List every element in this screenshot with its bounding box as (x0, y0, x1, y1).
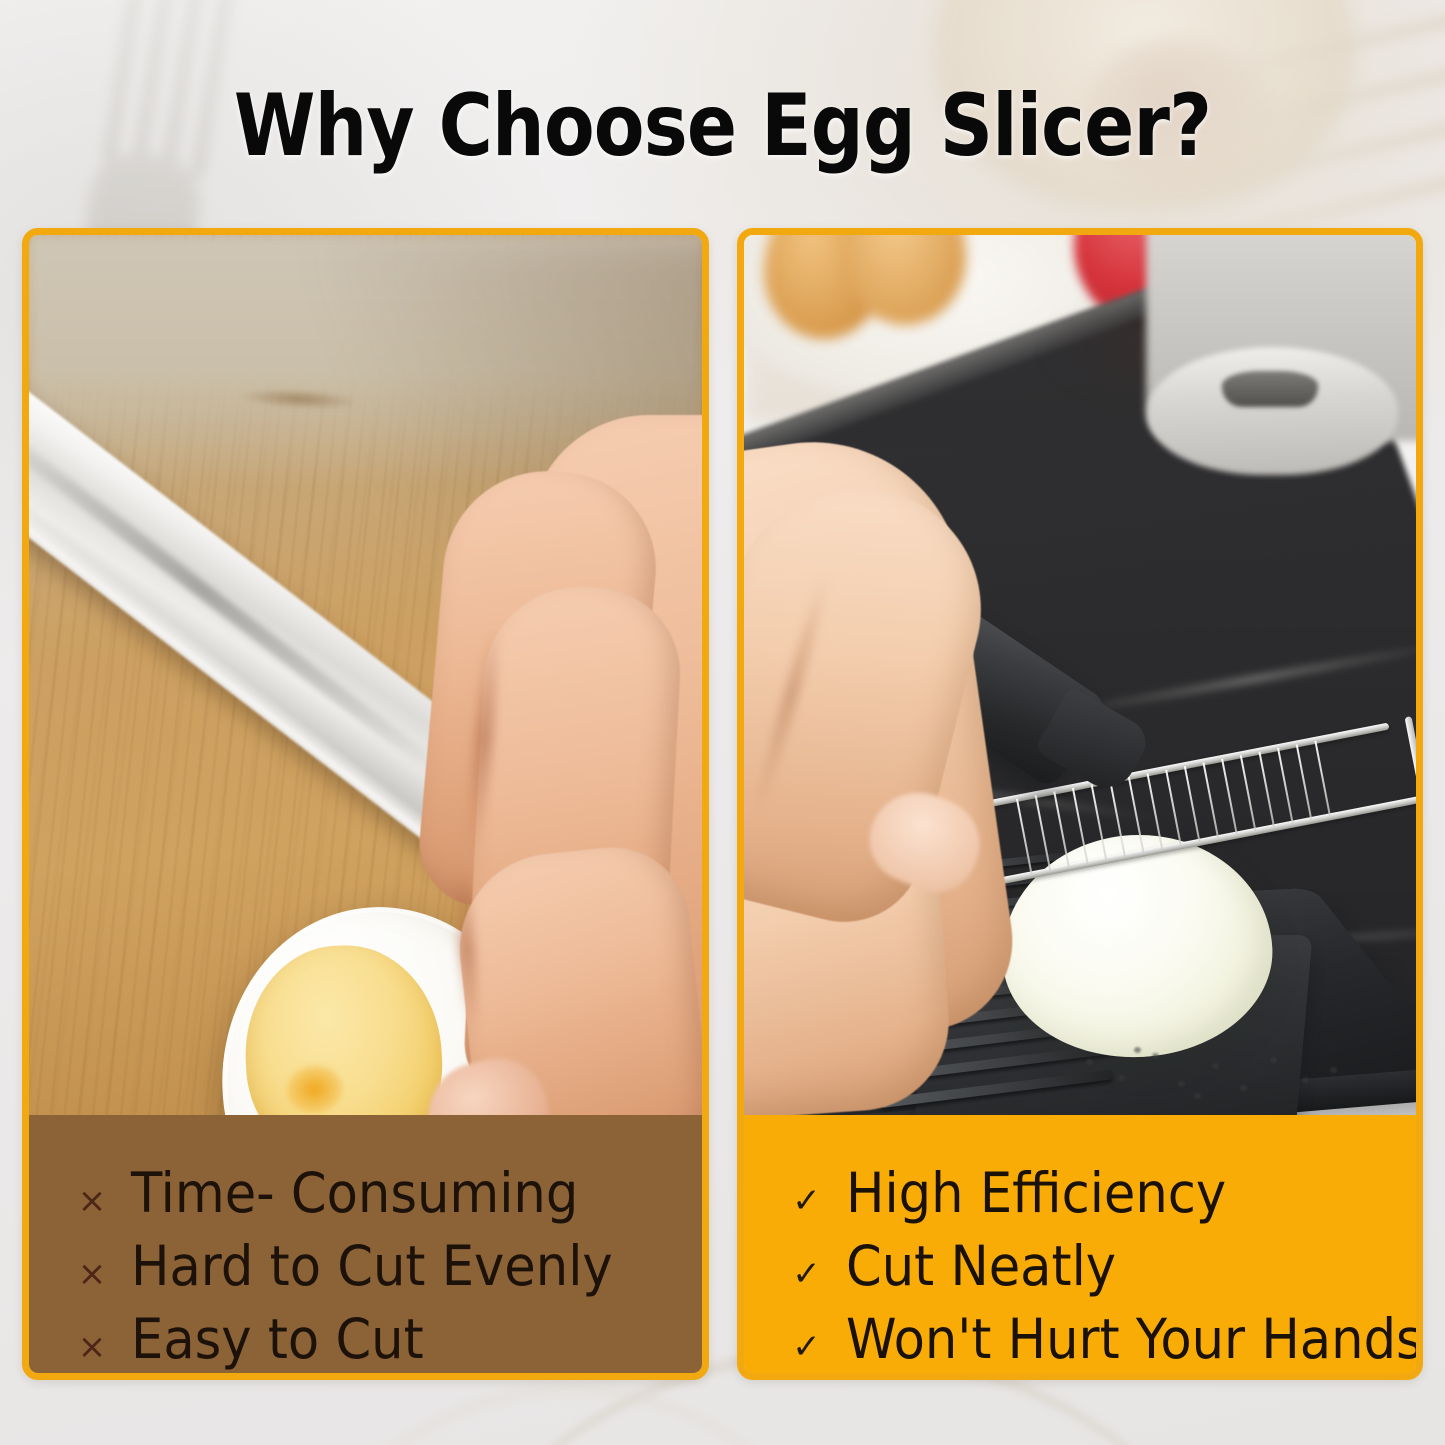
panel-without-slicer: × Time- Consuming × Hard to Cut Evenly ×… (22, 228, 709, 1380)
page-title: Why Choose Egg Slicer? (101, 76, 1344, 176)
list-item-label: Time- Consuming (131, 1161, 578, 1226)
list-item: ✓ Cut Neatly (790, 1234, 1417, 1299)
caption-drawbacks: × Time- Consuming × Hard to Cut Evenly ×… (29, 1115, 702, 1373)
check-icon: ✓ (790, 1257, 824, 1291)
list-item-label: Cut Neatly (846, 1234, 1116, 1299)
pot-lid (1148, 347, 1398, 475)
list-item: × Easy to Cut (75, 1307, 702, 1372)
comparison-panels: × Time- Consuming × Hard to Cut Evenly ×… (22, 228, 1423, 1380)
pot-knob (1222, 371, 1318, 407)
counter-crumbs (1074, 1041, 1354, 1101)
panel-with-slicer: ✓ High Efficiency ✓ Cut Neatly ✓ Won't H… (737, 228, 1424, 1380)
photo-knife-cutting-egg (29, 235, 702, 1115)
check-icon: ✓ (790, 1184, 824, 1218)
cross-icon: × (75, 1184, 109, 1218)
list-item: × Hard to Cut Evenly (75, 1234, 702, 1299)
list-item-label: High Efficiency (846, 1161, 1226, 1226)
check-icon: ✓ (790, 1330, 824, 1364)
list-item-label: Won't Hurt Your Hands (846, 1307, 1423, 1372)
wire-frame-arm (1404, 716, 1416, 808)
cross-icon: × (75, 1330, 109, 1364)
photo-egg-slicer-in-use (744, 235, 1417, 1115)
list-item: × Time- Consuming (75, 1161, 702, 1226)
list-item-label: Hard to Cut Evenly (131, 1234, 613, 1299)
list-item: ✓ Won't Hurt Your Hands (790, 1307, 1417, 1372)
list-item: ✓ High Efficiency (790, 1161, 1417, 1226)
list-item-label: Easy to Cut (131, 1307, 424, 1372)
egg-slicer-comparison-infographic: Why Choose Egg Slicer? (0, 0, 1445, 1445)
cross-icon: × (75, 1257, 109, 1291)
caption-benefits: ✓ High Efficiency ✓ Cut Neatly ✓ Won't H… (744, 1115, 1417, 1373)
